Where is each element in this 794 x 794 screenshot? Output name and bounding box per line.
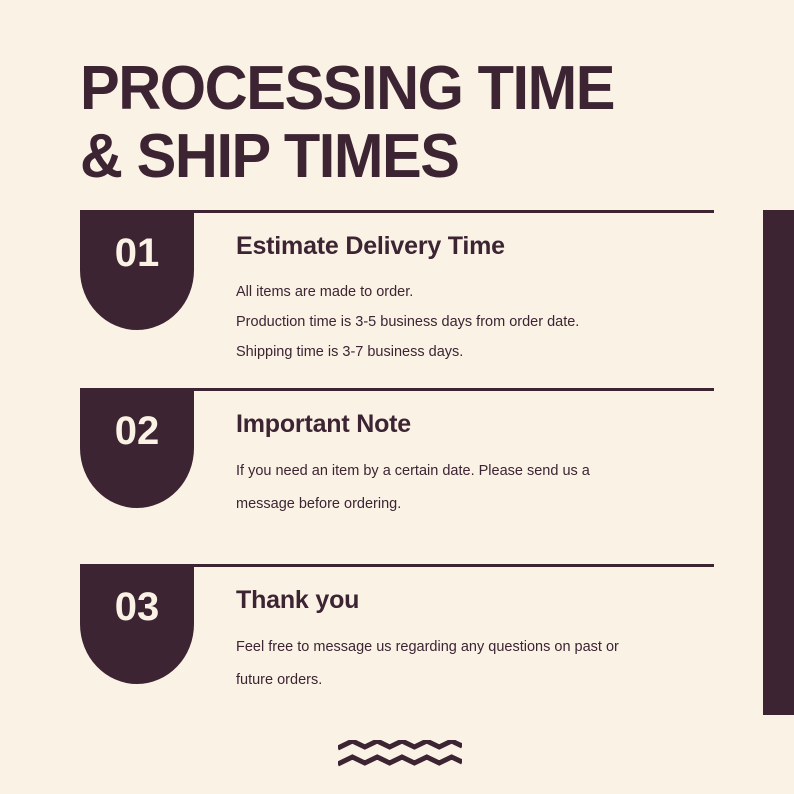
section-number-badge: 03: [80, 564, 194, 684]
section-body-line: message before ordering.: [236, 488, 736, 521]
section-body-line: Feel free to message us regarding any qu…: [236, 631, 736, 664]
section-number-label: 01: [115, 231, 160, 275]
double-wave-divider-icon: [338, 740, 462, 768]
section-body-line: Shipping time is 3-7 business days.: [236, 337, 716, 367]
section-heading: Thank you: [236, 586, 736, 615]
section-content: Thank you Feel free to message us regard…: [236, 586, 736, 697]
section-content: Estimate Delivery Time All items are mad…: [236, 232, 716, 367]
section-body-line: If you need an item by a certain date. P…: [236, 455, 736, 488]
section-number-badge: 02: [80, 388, 194, 508]
section-body-line: future orders.: [236, 664, 736, 697]
page-title: PROCESSING TIME & SHIP TIMES: [80, 58, 720, 188]
section-heading: Estimate Delivery Time: [236, 232, 716, 261]
section-body-line: Production time is 3-5 business days fro…: [236, 307, 716, 337]
page-title-line-2: & SHIP TIMES: [80, 126, 694, 188]
poster-canvas: PROCESSING TIME & SHIP TIMES 01 Estimate…: [0, 0, 794, 794]
right-edge-accent-bar: [763, 210, 794, 715]
section-body-line: All items are made to order.: [236, 277, 716, 307]
section-number-badge: 01: [80, 210, 194, 330]
page-title-line-1: PROCESSING TIME: [80, 58, 694, 120]
section-heading: Important Note: [236, 410, 736, 439]
section-content: Important Note If you need an item by a …: [236, 410, 736, 521]
section-number-label: 02: [115, 409, 160, 453]
section-number-label: 03: [115, 585, 160, 629]
